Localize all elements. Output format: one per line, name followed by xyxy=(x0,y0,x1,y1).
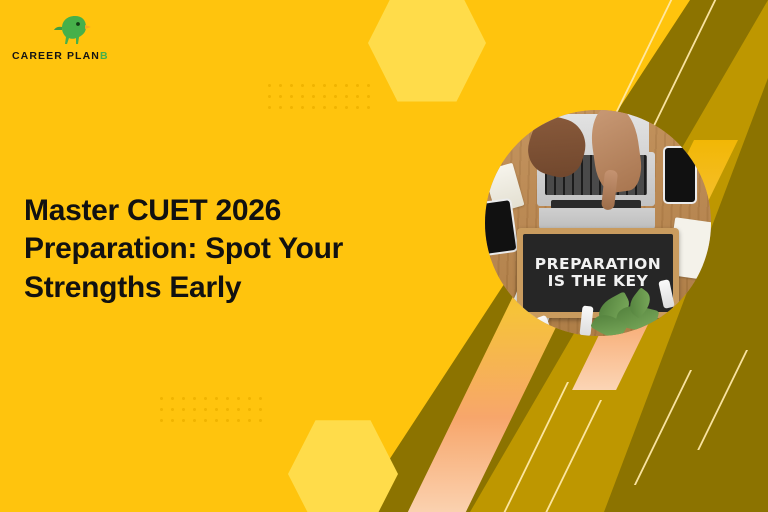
green-bird-icon xyxy=(52,14,92,50)
laptop-palmrest xyxy=(539,208,655,230)
glasses-lens-left xyxy=(667,308,685,325)
glasses-bridge xyxy=(684,314,691,316)
glasses-lens-right xyxy=(689,308,707,325)
dot-grid-bottom xyxy=(160,397,270,430)
logo-text-accent: B xyxy=(100,50,109,62)
eyeglasses xyxy=(667,308,709,326)
chalkboard-surface: PREPARATION IS THE KEY xyxy=(523,234,673,312)
smartphone-right xyxy=(663,146,697,204)
logo-text-main: CAREER PLAN xyxy=(12,50,100,62)
logo-wordmark: CAREER PLANB xyxy=(12,50,109,62)
page-title: Master CUET 2026 Preparation: Spot Your … xyxy=(24,192,444,307)
hero-photo-circle: PREPARATION IS THE KEY xyxy=(485,110,711,336)
brand-logo[interactable]: CAREER PLANB xyxy=(8,14,158,64)
chalkboard: PREPARATION IS THE KEY xyxy=(517,228,679,318)
hexagon-decoration-bottom xyxy=(288,418,398,512)
hexagon-decoration-top xyxy=(368,0,486,104)
chalkboard-line-1: PREPARATION xyxy=(535,257,662,273)
promo-banner: CAREER PLANB Master CUET 2026 Preparatio… xyxy=(0,0,768,512)
dot-grid-top xyxy=(268,84,378,117)
chalkboard-line-2: IS THE KEY xyxy=(548,274,649,290)
